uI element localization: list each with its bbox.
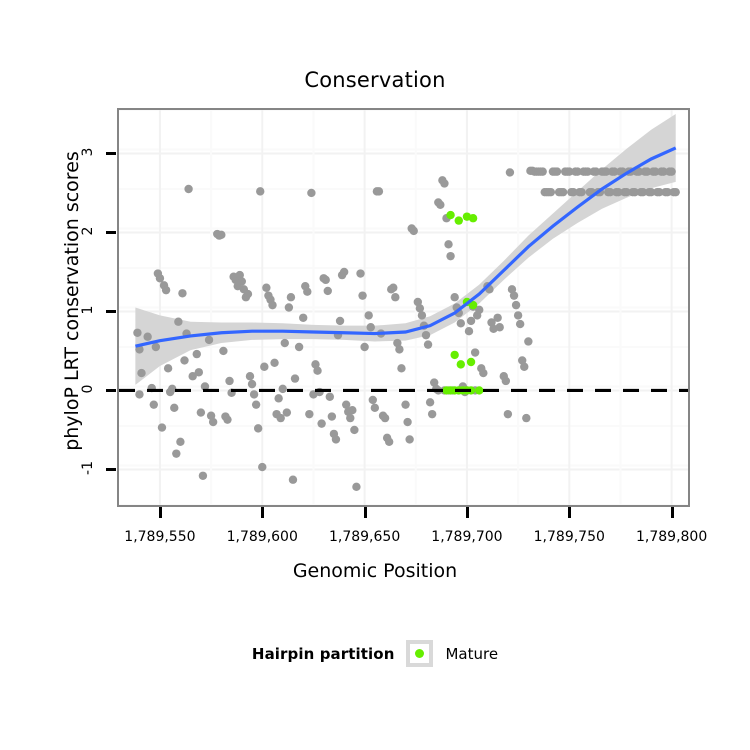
legend-title: Hairpin partition: [252, 645, 395, 663]
data-point: [418, 311, 426, 319]
data-point: [516, 320, 524, 328]
data-point: [667, 167, 675, 175]
data-point: [475, 386, 483, 394]
y-tick-mark: [106, 468, 116, 471]
data-point: [176, 438, 184, 446]
data-point: [223, 415, 231, 423]
data-point: [371, 404, 379, 412]
data-point: [193, 350, 201, 358]
data-point: [143, 333, 151, 341]
data-point: [158, 423, 166, 431]
data-point: [401, 400, 409, 408]
plot-area: [119, 110, 688, 505]
data-point: [178, 289, 186, 297]
data-point: [205, 336, 213, 344]
data-point: [225, 377, 233, 385]
data-point: [252, 400, 260, 408]
data-point: [504, 410, 512, 418]
x-tick-label: 1,789,600: [207, 529, 317, 545]
y-tick-label: 0: [80, 372, 96, 406]
data-point: [479, 369, 487, 377]
data-point: [553, 167, 561, 175]
x-tick-mark: [159, 507, 162, 518]
x-tick-label: 1,789,550: [105, 529, 215, 545]
data-point: [299, 314, 307, 322]
data-point: [450, 293, 458, 301]
data-point: [524, 337, 532, 345]
data-point: [446, 252, 454, 260]
data-point: [514, 311, 522, 319]
data-point: [397, 364, 405, 372]
data-point: [270, 359, 278, 367]
data-point: [385, 438, 393, 446]
data-point: [172, 449, 180, 457]
x-tick-label: 1,789,750: [514, 529, 624, 545]
data-point: [365, 311, 373, 319]
y-tick-mark: [106, 389, 116, 392]
data-point: [340, 268, 348, 276]
data-point: [405, 435, 413, 443]
data-point: [283, 408, 291, 416]
data-point: [256, 187, 264, 195]
legend-label-mature: Mature: [445, 645, 498, 663]
x-tick-mark: [671, 507, 674, 518]
data-point: [467, 358, 475, 366]
data-point: [522, 414, 530, 422]
data-point: [268, 301, 276, 309]
data-point: [281, 339, 289, 347]
data-point: [436, 201, 444, 209]
page-title: Conservation: [0, 67, 750, 93]
data-point: [352, 483, 360, 491]
legend-marker-icon: [415, 649, 424, 658]
data-point: [289, 476, 297, 484]
plot-panel: [117, 108, 690, 507]
legend-key-mature[interactable]: [406, 640, 433, 667]
data-point: [199, 472, 207, 480]
data-point: [164, 364, 172, 372]
data-point: [450, 351, 458, 359]
data-point: [350, 426, 358, 434]
conservation-scatter-figure: Conservation phyloP LRT conservation sco…: [0, 0, 750, 750]
data-point: [403, 418, 411, 426]
data-point: [493, 314, 501, 322]
data-point: [395, 345, 403, 353]
data-point: [303, 288, 311, 296]
data-point: [197, 408, 205, 416]
data-point: [465, 327, 473, 335]
x-axis-title: Genomic Position: [0, 560, 750, 582]
y-tick-mark: [106, 152, 116, 155]
data-point: [416, 304, 424, 312]
data-point: [324, 287, 332, 295]
data-point: [672, 188, 680, 196]
data-point: [322, 276, 330, 284]
data-point: [332, 435, 340, 443]
data-point: [328, 412, 336, 420]
data-point: [426, 398, 434, 406]
data-point: [254, 424, 262, 432]
data-point: [391, 293, 399, 301]
data-point: [367, 323, 375, 331]
data-point: [317, 419, 325, 427]
data-point: [170, 404, 178, 412]
data-point: [291, 374, 299, 382]
data-point: [219, 347, 227, 355]
legend: Hairpin partition Mature: [0, 640, 750, 667]
data-point: [512, 301, 520, 309]
data-point: [195, 368, 203, 376]
data-point: [538, 167, 546, 175]
data-point: [369, 396, 377, 404]
x-tick-label: 1,789,700: [412, 529, 522, 545]
data-point: [469, 214, 477, 222]
data-point: [135, 390, 143, 398]
data-point: [248, 380, 256, 388]
data-point: [313, 367, 321, 375]
data-point: [381, 414, 389, 422]
data-point: [180, 356, 188, 364]
data-point: [502, 377, 510, 385]
x-tick-mark: [568, 507, 571, 518]
y-tick-label: 1: [80, 293, 96, 327]
data-point: [246, 372, 254, 380]
data-point: [326, 393, 334, 401]
data-point: [559, 188, 567, 196]
data-point: [184, 185, 192, 193]
data-point: [156, 274, 164, 282]
data-point: [174, 318, 182, 326]
data-point: [360, 343, 368, 351]
data-point: [305, 410, 313, 418]
data-point: [440, 179, 448, 187]
data-point: [510, 291, 518, 299]
data-point: [410, 227, 418, 235]
data-point: [250, 390, 258, 398]
x-tick-mark: [261, 507, 264, 518]
data-point: [258, 463, 266, 471]
y-tick-mark: [106, 310, 116, 313]
data-point: [428, 410, 436, 418]
data-point: [356, 269, 364, 277]
data-point: [133, 329, 141, 337]
data-point: [457, 360, 465, 368]
data-point: [307, 189, 315, 197]
data-point: [446, 211, 454, 219]
x-tick-mark: [364, 507, 367, 518]
y-tick-mark: [106, 231, 116, 234]
data-point: [295, 343, 303, 351]
y-tick-label: 2: [80, 214, 96, 248]
data-point: [209, 418, 217, 426]
data-point: [495, 323, 503, 331]
data-point: [260, 363, 268, 371]
data-point: [217, 231, 225, 239]
x-tick-label: 1,789,650: [310, 529, 420, 545]
data-point: [336, 317, 344, 325]
data-point: [238, 277, 246, 285]
data-point: [577, 188, 585, 196]
y-tick-label: -1: [80, 451, 96, 485]
data-point: [152, 343, 160, 351]
data-point: [279, 385, 287, 393]
data-point: [150, 400, 158, 408]
data-point: [389, 284, 397, 292]
data-point: [346, 414, 354, 422]
data-point: [274, 394, 282, 402]
y-tick-label: 3: [80, 135, 96, 169]
x-tick-mark: [466, 507, 469, 518]
data-point: [285, 303, 293, 311]
data-point: [455, 216, 463, 224]
data-point: [358, 291, 366, 299]
data-point: [520, 363, 528, 371]
data-point: [262, 284, 270, 292]
confidence-band: [135, 114, 675, 385]
data-point: [422, 331, 430, 339]
data-point: [162, 286, 170, 294]
data-point: [457, 319, 465, 327]
data-point: [375, 187, 383, 195]
data-point: [506, 168, 514, 176]
data-point: [471, 348, 479, 356]
data-point: [137, 369, 145, 377]
data-point: [244, 290, 252, 298]
data-point: [424, 340, 432, 348]
data-point: [348, 406, 356, 414]
data-point: [547, 188, 555, 196]
scatter-plot-svg: [119, 110, 688, 505]
data-point: [444, 240, 452, 248]
data-point: [287, 293, 295, 301]
x-tick-label: 1,789,800: [617, 529, 727, 545]
